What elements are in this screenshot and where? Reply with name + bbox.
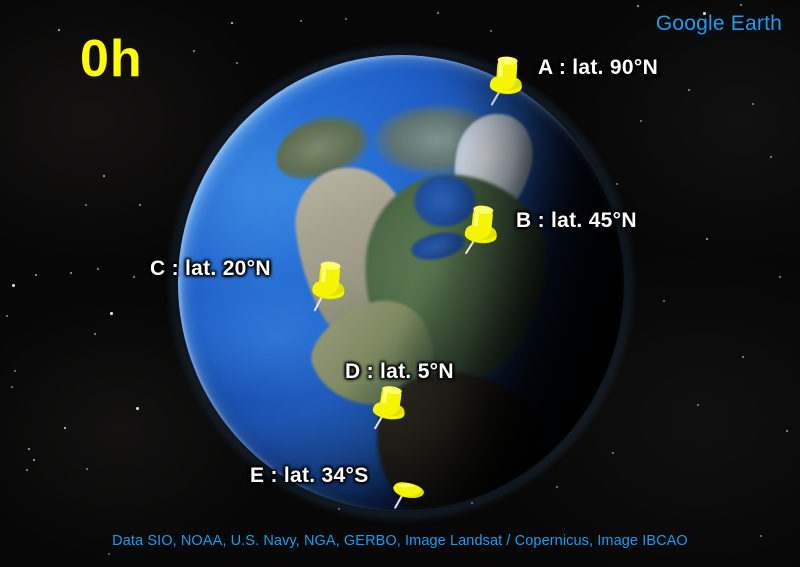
earth-globe[interactable] bbox=[178, 55, 624, 511]
simulation-time-label: 0h bbox=[80, 33, 143, 85]
marker-label-e: E : lat. 34°S bbox=[250, 464, 369, 488]
map-pin-c[interactable] bbox=[303, 253, 354, 319]
globe-sphere bbox=[178, 55, 624, 511]
google-earth-screenshot: A : lat. 90°N B : lat. 45°N C : lat. 20°… bbox=[0, 0, 800, 567]
google-earth-logo-text: Google Earth bbox=[656, 12, 782, 36]
marker-label-b: B : lat. 45°N bbox=[516, 209, 637, 233]
marker-label-a: A : lat. 90°N bbox=[538, 56, 658, 80]
map-pin-b[interactable] bbox=[455, 197, 507, 263]
map-pin-d[interactable] bbox=[362, 376, 416, 438]
map-pin-a[interactable] bbox=[481, 49, 531, 114]
marker-label-c: C : lat. 20°N bbox=[150, 257, 271, 281]
marker-label-d: D : lat. 5°N bbox=[345, 360, 454, 384]
data-attribution-text: Data SIO, NOAA, U.S. Navy, NGA, GERBO, I… bbox=[0, 533, 800, 549]
